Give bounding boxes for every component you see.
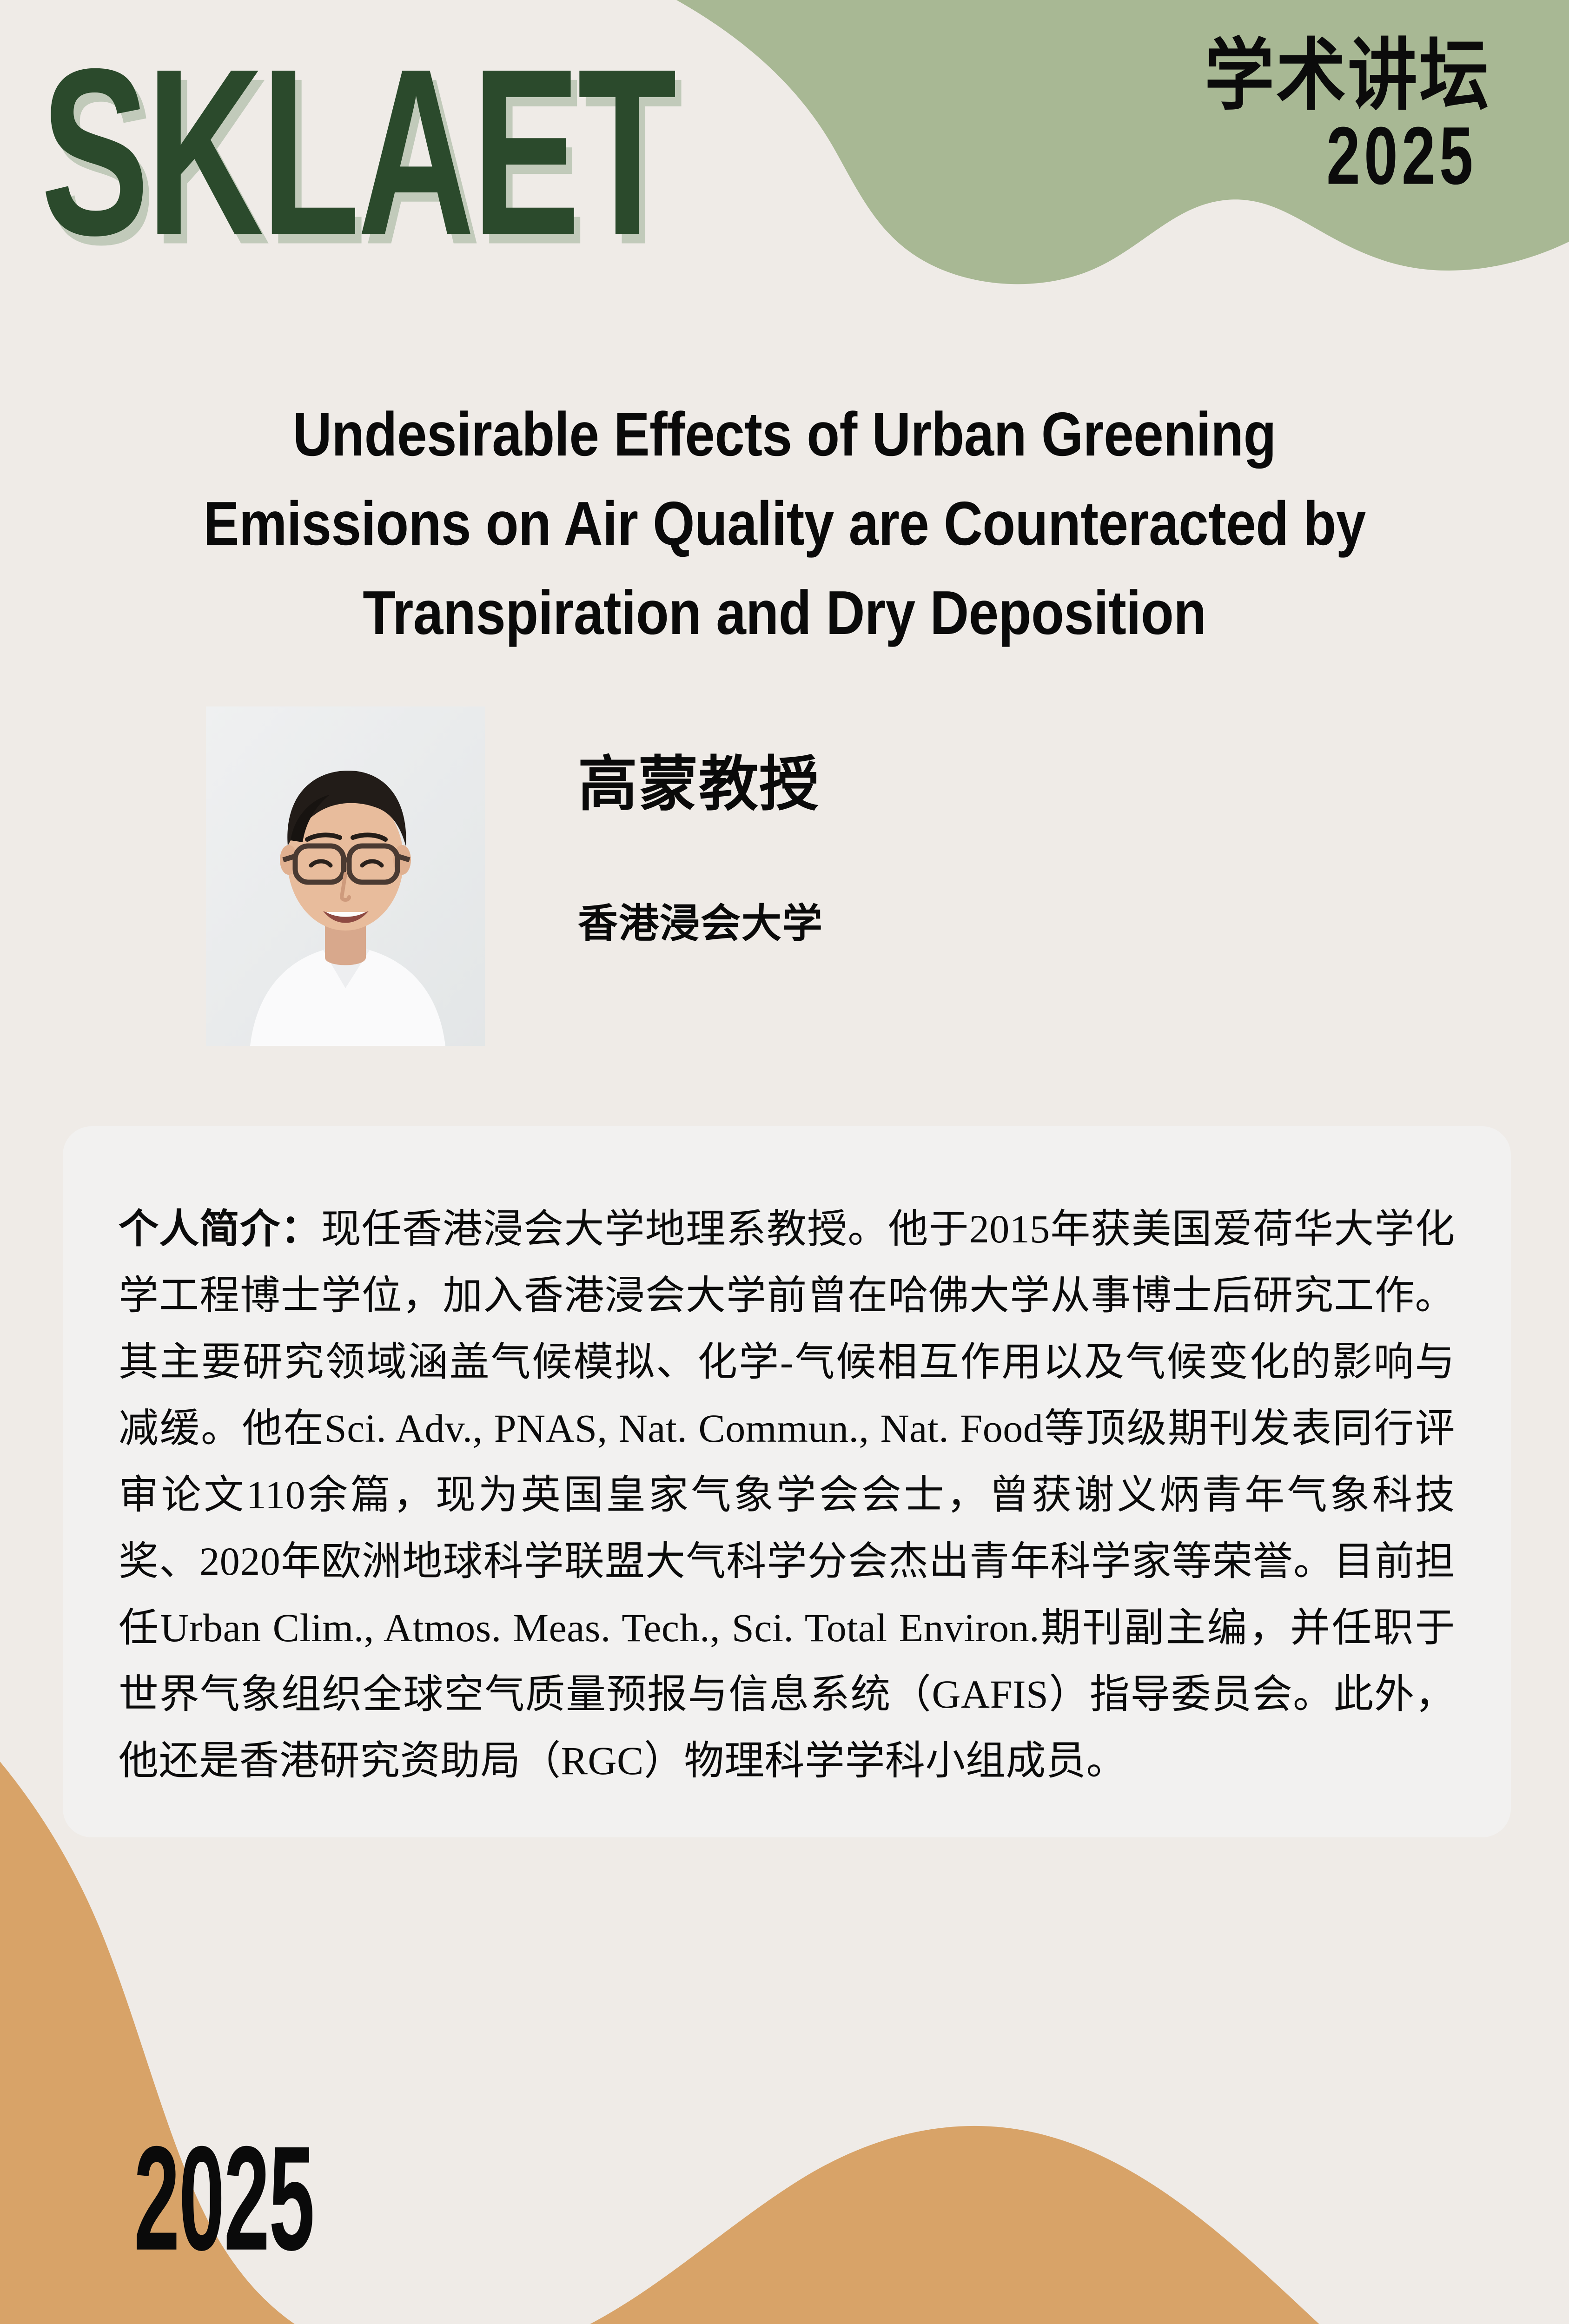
event-year: 2025 xyxy=(134,2124,314,2272)
event-details: 2025 04/16 13:30PM 标本楼722 xyxy=(0,0,1569,2324)
event-date: 04/16 xyxy=(116,2301,371,2324)
